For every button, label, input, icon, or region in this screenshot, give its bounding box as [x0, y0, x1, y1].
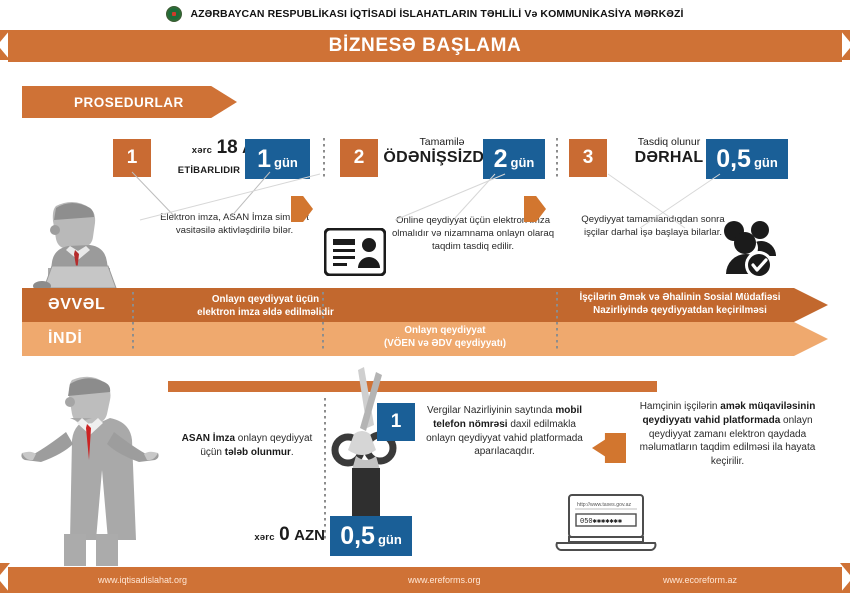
band-now-label: İNDİ [48, 322, 82, 356]
bottom-duration-unit: gün [378, 532, 402, 547]
procedures-label: PROSEDURLAR [22, 95, 184, 110]
labor-contract-text: Hamçinin işçilərin amək müqaviləsinin qe… [630, 400, 825, 469]
shrugging-businessman-icon [20, 374, 160, 575]
corner-notch-top-right [824, 30, 850, 56]
page-title: BİZNESƏ BAŞLAMA [329, 35, 522, 57]
footer-url-1[interactable]: www.iqtisadislahat.org [98, 567, 187, 593]
corner-notch-top-left [0, 30, 26, 56]
step-1-cost-value: 18 [217, 137, 238, 158]
tax-registration-text: Vergilar Nazirliyinin saytında mobil tel… [422, 404, 587, 459]
people-group-check-icon [716, 218, 792, 285]
main-title-band: BİZNESƏ BAŞLAMA [8, 30, 842, 62]
laptop-url-text: http://www.taxes.gov.az [577, 502, 632, 508]
band-separator-2 [322, 292, 324, 350]
bottom-duration-chip: 0,5 gün [330, 516, 412, 556]
band-before-segment-1: Onlayn qeydiyyat üçünelektron imza əldə … [168, 294, 363, 319]
footer-bar: www.iqtisadislahat.org www.ereforms.org … [8, 567, 842, 593]
cut-bar [168, 381, 657, 392]
hand-with-scissors-icon [330, 364, 400, 529]
step-2-duration-unit: gün [511, 155, 535, 170]
step-1-cost-label: xərc [192, 145, 212, 156]
asan-signature-text: ASAN İmza onlayn qeydiyyat üçün tələb ol… [172, 432, 322, 460]
footer-url-3[interactable]: www.ecoreform.az [663, 567, 737, 593]
band-separator-3 [556, 292, 558, 350]
footer-url-2[interactable]: www.ereforms.org [408, 567, 481, 593]
bottom-duration-value: 0,5 [340, 516, 375, 556]
band-before-segment-3: İşçilərin Əmək və Əhalinin Sosial Müdafi… [525, 292, 835, 317]
bottom-cost-row: xərc 0 AZN [210, 525, 325, 545]
laptop-phone-text: 050✱✱✱✱✱✱✱ [580, 518, 623, 526]
laptop-icon: http://www.taxes.gov.az 050✱✱✱✱✱✱✱ [553, 494, 659, 552]
organization-title: AZƏRBAYCAN RESPUBLİKASI İQTİSADİ İSLAHAT… [190, 8, 683, 20]
procedures-arrow: PROSEDURLAR [22, 86, 237, 118]
left-arrow-icon [592, 433, 626, 463]
step-3-duration-unit: gün [754, 155, 778, 170]
bottom-step-number: 1 [377, 403, 415, 441]
bottom-cost-value: 0 [279, 524, 290, 545]
step-1-duration-unit: gün [274, 155, 298, 170]
band-now-segment-2: Onlayn qeydiyyat(VÖEN və ƏDV qeydiyyatı) [335, 325, 555, 350]
header-bar: AZƏRBAYCAN RESPUBLİKASI İQTİSADİ İSLAHAT… [0, 0, 850, 28]
band-before-label: ƏVVƏL [48, 288, 105, 322]
bottom-cost-currency: AZN [294, 527, 325, 544]
id-card-icon [324, 228, 386, 281]
infographic-page: AZƏRBAYCAN RESPUBLİKASI İQTİSADİ İSLAHAT… [0, 0, 850, 601]
azerbaijan-coat-of-arms-icon [166, 6, 182, 22]
bottom-cost-block: xərc 0 AZN [210, 525, 325, 545]
person-at-laptop-icon [18, 196, 130, 297]
bottom-separator [324, 398, 326, 540]
band-separator-1 [132, 292, 134, 350]
bottom-cost-label: xərc [254, 532, 274, 543]
